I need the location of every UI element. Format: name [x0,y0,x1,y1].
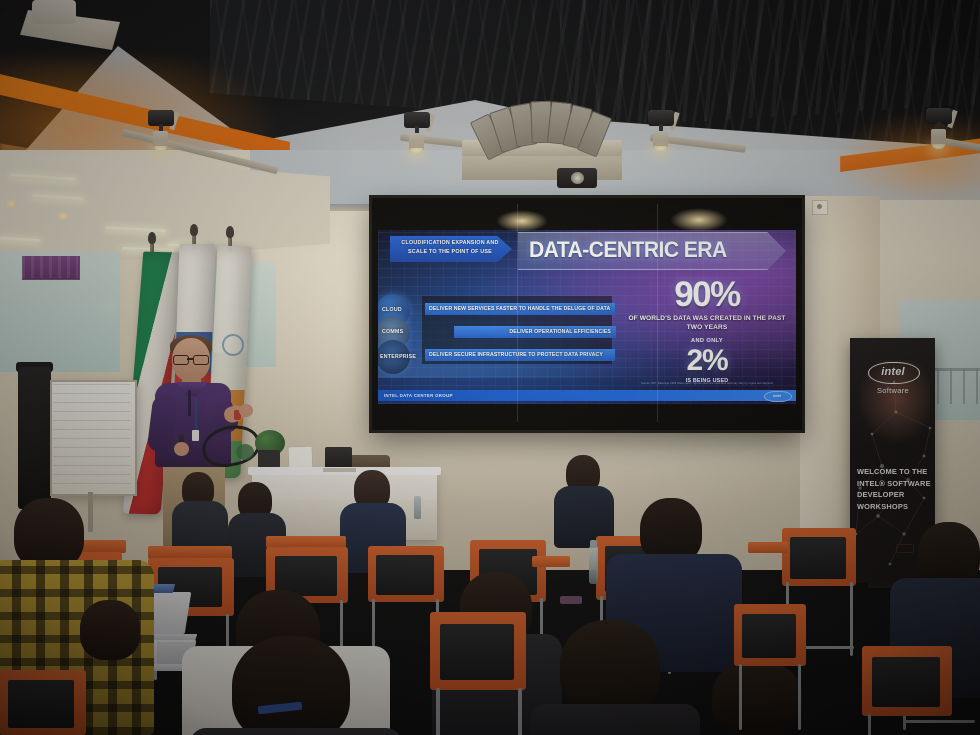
slide-title: DATA-CENTRIC ERA [529,234,769,266]
glasses-icon [173,355,209,363]
banner-logo-word: intel [868,364,918,380]
desk-plant-small [236,444,254,460]
segment-label-comms: COMMS [382,329,403,335]
line-array-speaker-cluster [478,100,603,156]
flag-finial [226,226,234,238]
slide-footer-group: INTEL DATA CENTER GROUP [384,391,453,400]
video-wall-seam [517,204,518,422]
presenter-shirt-placket [188,390,191,416]
video-wall-seam [657,204,658,422]
presentation-hall-photo: CLOUDIFICATION EXPANSION AND SCALE TO TH… [0,0,980,735]
speaker-support-beam-shadow [462,156,622,180]
segment-label-enterprise: ENTERPRISE [380,354,416,360]
slide-bullet-2: DELIVER OPERATIONAL EFFICIENCIES [454,326,616,338]
slide-header-tag-text: CLOUDIFICATION EXPANSION AND SCALE TO TH… [394,239,506,256]
water-bottle [414,496,421,519]
presenter-left-hand [174,442,189,456]
presenter-lanyard [195,398,197,432]
water-bottle [589,546,598,584]
presenter-right-hand [239,404,253,417]
slide-letterbox-bottom [378,404,796,422]
desk-laptop-base [323,468,356,472]
ceiling-vent [32,0,76,24]
slide-bullet-1: DELIVER NEW SERVICES FASTER TO HANDLE TH… [425,303,615,315]
flag-finial [148,232,156,244]
banner-headline: WELCOME TO THE INTEL® SOFTWARE DEVELOPER… [857,466,933,512]
slide-source-note: Source: IDC, Data Age 2025 white paper; … [584,382,774,386]
wall-sensor-lens-icon [817,204,822,209]
stat-primary-caption: OF WORLD'S DATA WAS CREATED IN THE PAST … [620,314,794,332]
pa-column-speaker [18,367,51,509]
stat-secondary-value: 2% [624,344,790,378]
slide-bullet-3: DELIVER SECURE INFRASTRUCTURE TO PROTECT… [425,349,615,361]
phone-on-desk [560,596,582,604]
desk-laptop [325,447,352,469]
flipchart-paper-lines [53,384,130,488]
wall-sign-box-sheen [22,256,78,278]
water-bottle-cap [590,540,597,548]
slide-letterbox-top [378,204,796,230]
video-wall-display[interactable]: CLOUDIFICATION EXPANSION AND SCALE TO TH… [378,204,796,422]
banner-logo-sub: Software [862,386,924,395]
flag-finial [190,224,198,236]
glasses-icon [896,544,914,553]
segment-label-cloud: CLOUD [382,307,402,313]
stat-primary-value: 90% [624,276,790,314]
presenter-name-badge [192,430,199,441]
projector-lens-icon [571,172,584,184]
flipchart-stand-leg [88,492,93,532]
ceiling-downlight [56,212,70,220]
desk-plant-pot [258,450,280,468]
intel-logo-text: intel [766,392,788,399]
ceiling-downlight [5,200,18,207]
